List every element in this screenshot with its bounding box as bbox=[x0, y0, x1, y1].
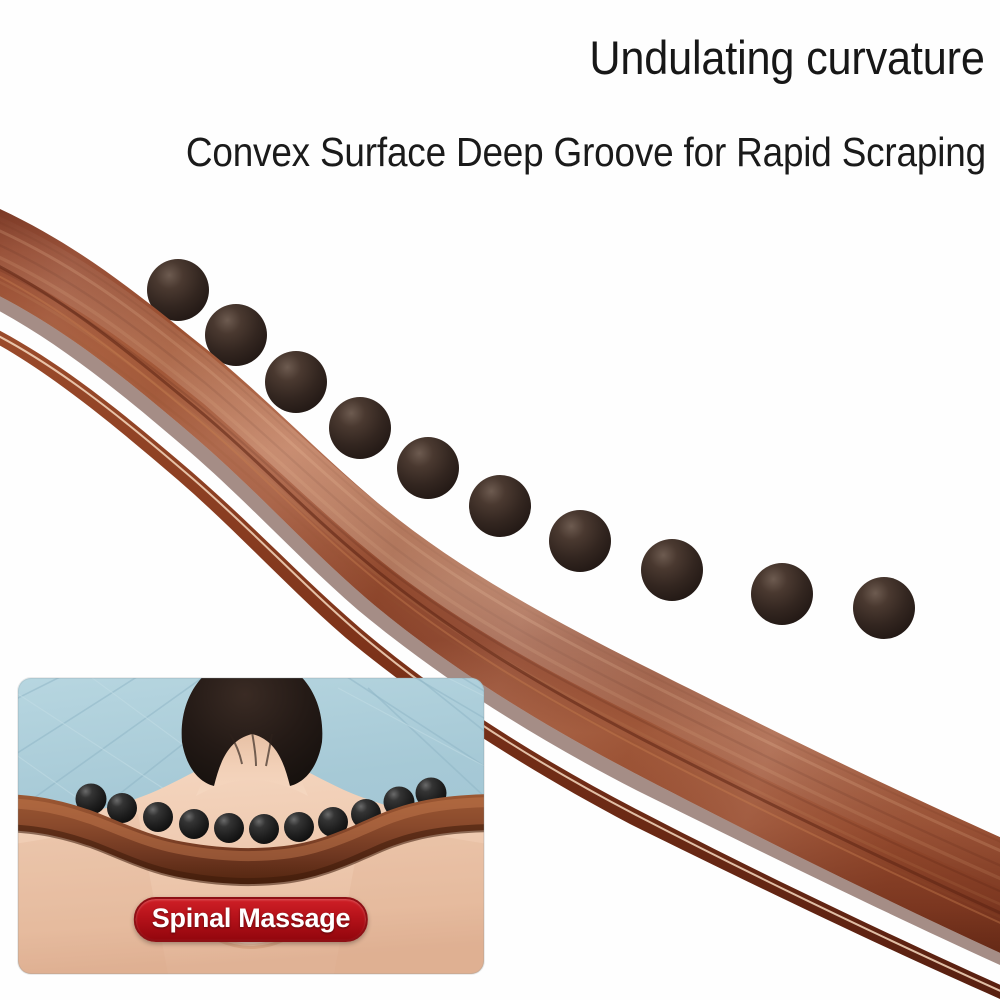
spinal-massage-inset: Spinal Massage bbox=[18, 678, 484, 974]
status-badge: Spinal Massage bbox=[134, 897, 368, 942]
image-canvas: Undulating curvature Convex Surface Deep… bbox=[0, 0, 1000, 1000]
